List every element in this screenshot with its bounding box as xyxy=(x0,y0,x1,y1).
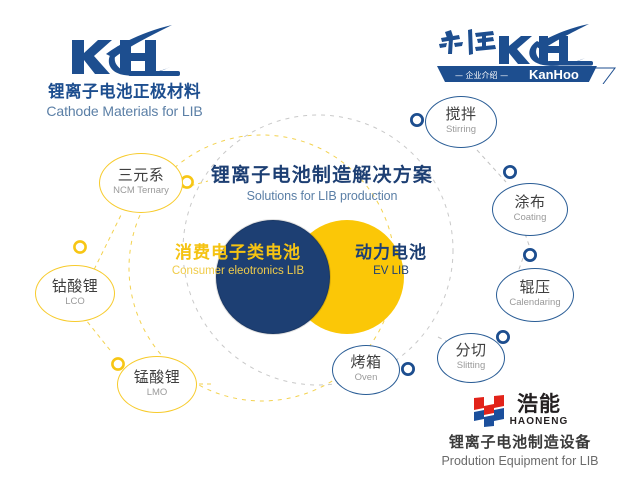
brand-left: 锂离子电池正极材料 Cathode Materials for LIB xyxy=(22,22,227,120)
node-oven-cn: 烤箱 xyxy=(350,355,381,371)
node-coating-en: Coating xyxy=(514,211,547,224)
node-lco-cn: 钴酸锂 xyxy=(52,279,99,295)
dot-stirring-coating xyxy=(504,166,516,178)
kanhoo-logo-icon: — 企业介绍 — KanHoo xyxy=(437,22,617,84)
node-lmo[interactable]: 锰酸锂 LMO xyxy=(117,356,197,413)
node-lco-en: LCO xyxy=(65,295,85,308)
center-title: 锂离子电池制造解决方案 Solutions for LIB production xyxy=(196,165,448,206)
node-stirring[interactable]: 搅拌 Stirring xyxy=(425,96,497,148)
haoneng-brand-cn: 浩能 xyxy=(510,394,569,415)
dot-calendaring-slitting xyxy=(497,331,509,343)
node-lmo-en: LMO xyxy=(147,386,168,399)
diagram-canvas: 消费电子类电池 Consumer eleotronics LIB 动力电池 EV… xyxy=(0,0,619,489)
center-title-en: Solutions for LIB production xyxy=(196,187,448,206)
brand-left-cn: 锂离子电池正极材料 xyxy=(22,82,227,103)
node-stirring-en: Stirring xyxy=(446,123,476,136)
node-coating[interactable]: 涂布 Coating xyxy=(492,183,568,236)
haoneng-logo-icon xyxy=(472,395,506,427)
kh-logo-icon xyxy=(66,22,184,80)
brand-left-en: Cathode Materials for LIB xyxy=(22,103,227,121)
kanhoo-ribbon-en-text: KanHoo xyxy=(529,67,579,82)
connector-stirring-to-coating xyxy=(477,150,506,182)
node-oven-en: Oven xyxy=(355,371,378,384)
node-calendaring[interactable]: 辊压 Calendaring xyxy=(496,268,574,322)
node-oven[interactable]: 烤箱 Oven xyxy=(332,345,400,395)
center-title-cn: 锂离子电池制造解决方案 xyxy=(196,165,448,187)
node-ncm-ternary-cn: 三元系 xyxy=(118,168,165,184)
node-calendaring-cn: 辊压 xyxy=(519,280,550,296)
node-lco[interactable]: 钴酸锂 LCO xyxy=(35,265,115,322)
node-lmo-cn: 锰酸锂 xyxy=(134,370,181,386)
venn-diagram xyxy=(180,215,440,340)
kanhoo-ribbon-cn-text: — 企业介绍 — xyxy=(455,70,508,80)
node-slitting-cn: 分切 xyxy=(455,343,486,359)
haoneng-brand-en: HAONENG xyxy=(510,415,569,428)
node-ncm-ternary-en: NCM Ternary xyxy=(113,184,169,197)
node-stirring-cn: 搅拌 xyxy=(445,107,476,123)
dot-ternary-lco xyxy=(74,241,86,253)
brand-bottom-en: Prodution Equipment for LIB xyxy=(430,453,610,469)
brand-bottom-cn: 锂离子电池制造设备 xyxy=(430,433,610,453)
haoneng-logo-row: 浩能 HAONENG xyxy=(430,394,610,428)
dot-coating-calendaring xyxy=(524,249,536,261)
node-ncm-ternary[interactable]: 三元系 NCM Ternary xyxy=(99,153,183,213)
node-calendaring-en: Calendaring xyxy=(509,296,560,309)
dot-process-hub xyxy=(411,114,423,126)
node-slitting-en: Slitting xyxy=(457,359,486,372)
node-coating-cn: 涂布 xyxy=(514,195,545,211)
brand-bottom: 浩能 HAONENG 锂离子电池制造设备 Prodution Equipment… xyxy=(430,394,610,470)
dot-lco-lmo xyxy=(112,358,124,370)
brand-right: — 企业介绍 — KanHoo xyxy=(437,22,617,84)
node-slitting[interactable]: 分切 Slitting xyxy=(437,333,505,383)
dot-oven-slitting xyxy=(402,363,414,375)
